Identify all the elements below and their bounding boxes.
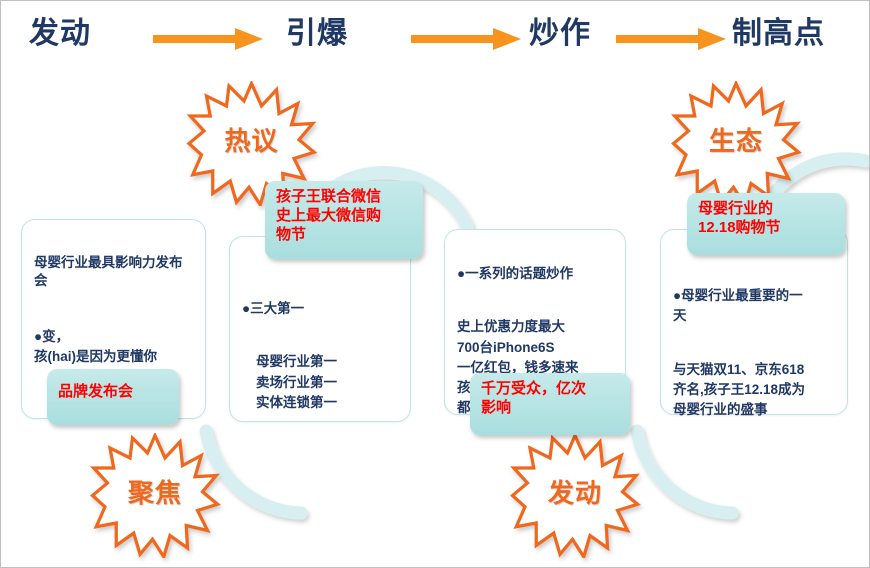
callout-brand-launch[interactable]: 品牌发布会 [47, 369, 179, 425]
box-3-body: ●一系列的话题炒作 [457, 264, 613, 284]
arrow-3-icon [616, 28, 726, 50]
stage-title-3: 炒作 [529, 19, 591, 49]
starburst-fadong[interactable]: 发动 [485, 433, 665, 558]
stage-title-2: 引爆 [286, 19, 348, 49]
starburst-shengtai[interactable]: 生态 [646, 81, 826, 206]
box-1-head: 母婴行业最具影响力发布会 [34, 254, 193, 292]
stage-title-1: 发动 [29, 19, 91, 49]
box-three-firsts[interactable]: ●三大第一 母婴行业第一 卖场行业第一 实体连锁第一 [229, 236, 411, 422]
box-2-body: ●三大第一 [242, 299, 398, 319]
box-1-body: ●变， 孩(hai)是因为更懂你 [34, 327, 193, 368]
callout-wechat-festival[interactable]: 孩子王联合微信 史上最大微信购 物节 [265, 181, 423, 259]
arrow-2-icon [411, 28, 521, 50]
callout-audience-impact[interactable]: 千万受众，亿次 影响 [470, 373, 630, 435]
box-4-body: ●母婴行业最重要的一 天 [673, 286, 835, 327]
box-4-body3: 与天猫双11、京东618 齐名,孩子王12.18成为 母婴行业的盛事 [673, 360, 835, 421]
box-most-important-day[interactable]: ●母婴行业最重要的一 天 与天猫双11、京东618 齐名,孩子王12.18成为 … [660, 229, 848, 415]
stage-title-4: 制高点 [732, 19, 825, 49]
callout-1218-festival[interactable]: 母婴行业的 12.18购物节 [687, 193, 845, 255]
slide-canvas: 发动 引爆 炒作 制高点 母婴行业最具影响力发布会 ●变， 孩(hai)是因为更… [0, 0, 870, 568]
starburst-jujiao[interactable]: 聚焦 [65, 433, 245, 558]
arrow-1-icon [153, 28, 263, 50]
box-2-body2: 母婴行业第一 卖场行业第一 实体连锁第一 [242, 352, 398, 413]
